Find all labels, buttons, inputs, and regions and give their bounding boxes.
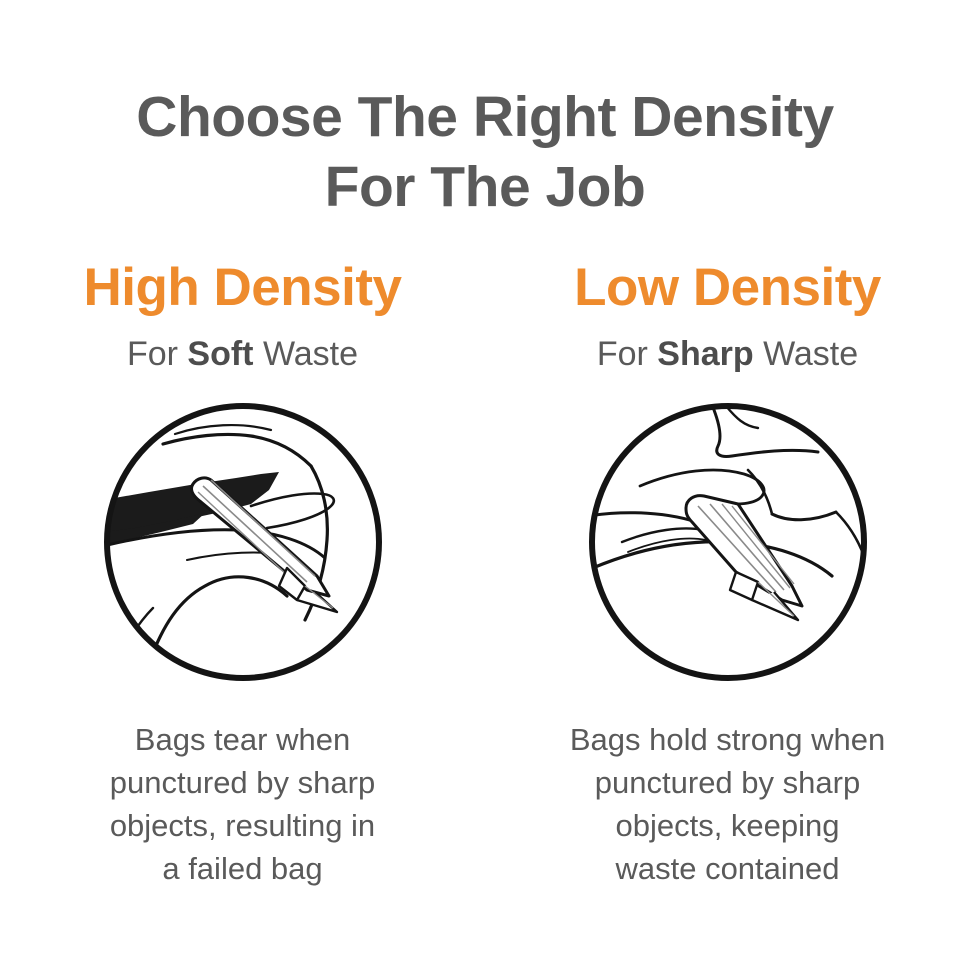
- title-line-1: Choose The Right Density: [0, 82, 970, 152]
- subheading-suffix: Waste: [754, 335, 859, 373]
- subheading-emphasis: Sharp: [657, 335, 753, 373]
- subheading-prefix: For: [127, 335, 187, 373]
- subheading-high-density: For Soft Waste: [127, 332, 358, 376]
- title-line-2: For The Job: [0, 152, 970, 222]
- subheading-low-density: For Sharp Waste: [597, 332, 858, 376]
- illustration-low-density: [586, 400, 870, 684]
- page-title: Choose The Right Density For The Job: [0, 82, 970, 222]
- column-low-density: Low Density For Sharp Waste: [485, 258, 970, 890]
- column-high-density: High Density For Soft Waste: [0, 258, 485, 890]
- illustration-high-density: [101, 400, 385, 684]
- density-comparison-infographic: Choose The Right Density For The Job Hig…: [0, 0, 970, 971]
- comparison-columns: High Density For Soft Waste: [0, 258, 970, 890]
- subheading-emphasis: Soft: [187, 335, 253, 373]
- heading-low-density: Low Density: [574, 258, 881, 318]
- caption-high-density: Bags tear when punctured by sharp object…: [110, 718, 375, 890]
- heading-high-density: High Density: [84, 258, 402, 318]
- subheading-prefix: For: [597, 335, 657, 373]
- caption-low-density: Bags hold strong when punctured by sharp…: [570, 718, 885, 890]
- subheading-suffix: Waste: [254, 335, 359, 373]
